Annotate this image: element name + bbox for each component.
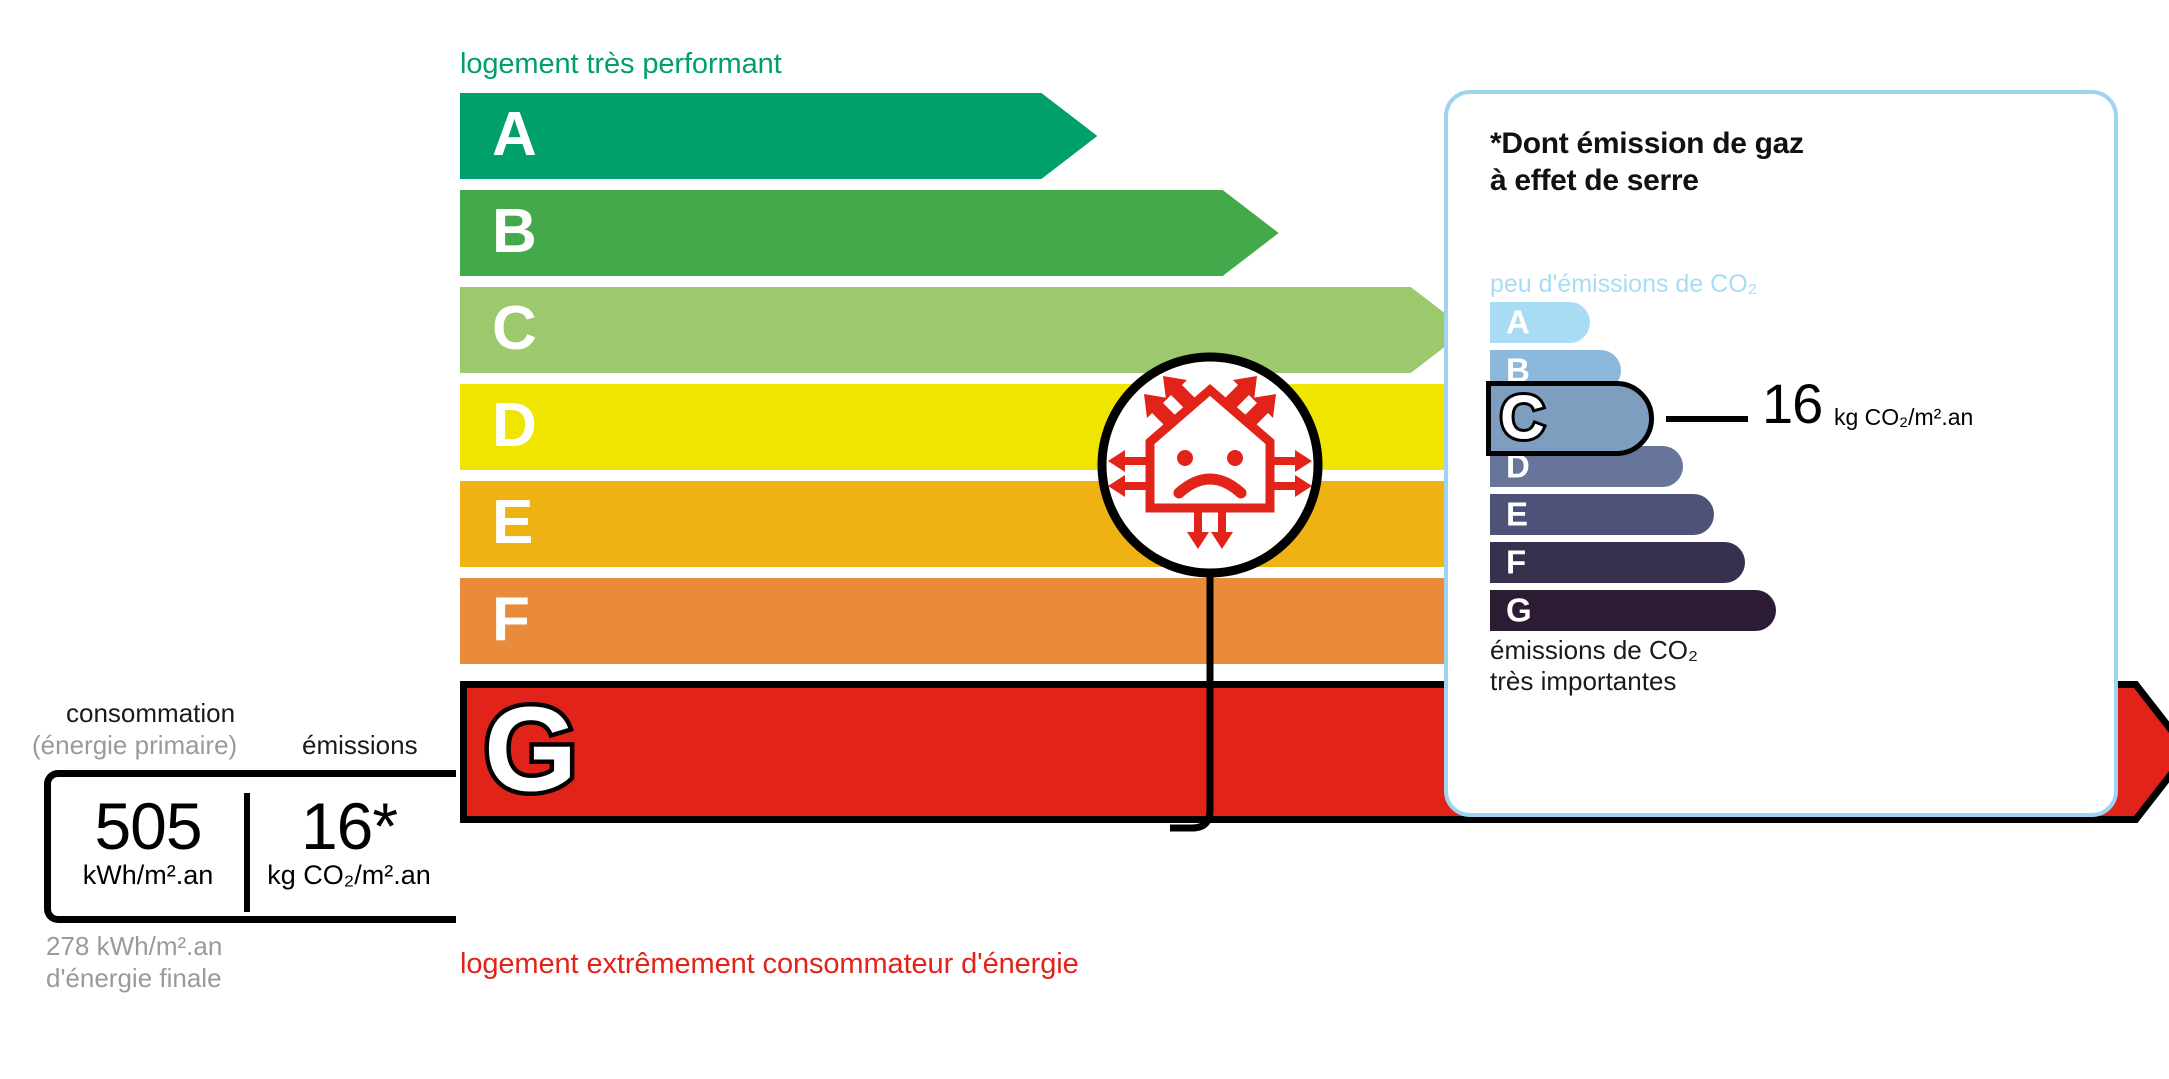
ges-value-unit: kg CO₂/m².an [1834,404,1973,431]
ges-top-label: peu d'émissions de CO₂ [1490,270,1757,299]
final-energy-footnote: 278 kWh/m².an d'énergie finale [46,930,222,994]
emissions-header-label: émissions [302,730,418,761]
co2-value-cell: 16* kg CO₂/m².an [256,793,442,891]
ges-selected-row: C [1486,381,1654,456]
energy-class-letter-e: E [492,492,533,554]
value-box-divider [244,793,250,912]
ges-panel-title: *Dont émission de gaz à effet de serre [1490,126,1804,199]
energy-bar-shape-b [460,190,1279,276]
ges-class-f: F [1490,542,1745,583]
energy-class-b: B [460,190,1279,276]
ges-class-e: E [1490,494,1714,535]
ges-panel: *Dont émission de gaz à effet de serre p… [1444,90,2118,817]
pointer-svg [1090,350,1330,850]
ges-selected-letter: C [1500,387,1545,449]
ges-value: 16 [1762,376,1822,432]
scale-top-label: logement très performant [460,48,782,81]
energy-class-letter-d: D [492,395,537,457]
ges-leader-line [1666,416,1748,422]
energy-value: 505 [55,793,241,860]
ges-class-a: A [1490,302,1590,343]
energy-class-letter-f: F [492,589,530,651]
energy-class-letter-c: C [492,298,537,360]
ges-bottom-line2: très importantes [1490,666,1698,697]
energy-class-letter-a: A [492,104,537,166]
ges-bottom-label: émissions de CO₂ très importantes [1490,635,1698,697]
primary-energy-sublabel: (énergie primaire) [32,730,237,761]
scale-bottom-label: logement extrêmement consommateur d'éner… [460,948,1079,981]
co2-value: 16* [256,793,442,860]
ges-class-letter-f: F [1506,545,1526,578]
final-energy-value: 278 kWh/m².an [46,930,222,962]
ges-class-letter-g: G [1506,593,1532,626]
ges-title-line1: *Dont émission de gaz [1490,126,1804,163]
energy-bar-shape-a [460,93,1097,179]
energy-unit: kWh/m².an [55,861,241,891]
rating-pointer [1090,350,1330,850]
pointer-stem [1170,574,1210,828]
energy-class-a: A [460,93,1097,179]
energy-class-letter-g: G [484,690,577,810]
final-energy-caption: d'énergie finale [46,962,222,994]
consumption-header-label: consommation [66,698,235,729]
value-box: 505 kWh/m².an 16* kg CO₂/m².an [44,770,456,923]
ges-bottom-line1: émissions de CO₂ [1490,635,1698,666]
energy-value-cell: 505 kWh/m².an [55,793,241,891]
ges-class-g: G [1490,590,1776,631]
ges-title-line2: à effet de serre [1490,163,1804,200]
energy-class-letter-b: B [492,201,537,263]
ges-class-letter-a: A [1506,305,1530,338]
co2-unit: kg CO₂/m².an [256,861,442,891]
ges-class-letter-e: E [1506,497,1528,530]
